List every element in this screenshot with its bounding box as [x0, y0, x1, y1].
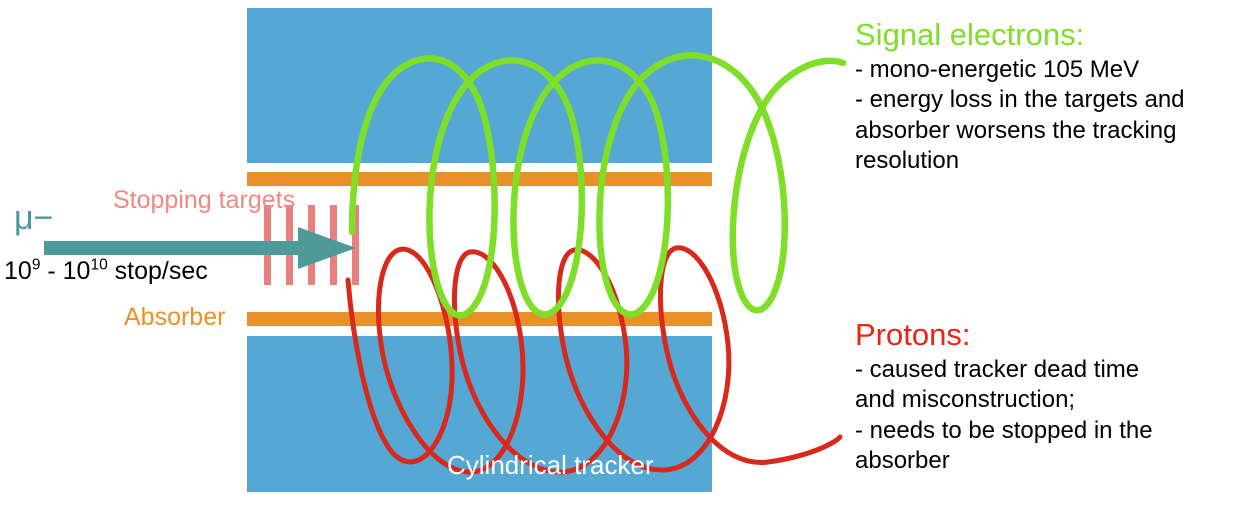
exponent: 9 — [32, 257, 41, 274]
annotation-protons: Protons: - caused tracker dead timeand m… — [855, 318, 1258, 477]
annotation-line: - mono-energetic 105 MeV — [855, 55, 1258, 85]
annotation-line: absorber — [855, 446, 1258, 476]
diagram-canvas: Stopping targets Absorber μ− 109 - 1010 … — [0, 0, 1258, 508]
annotation-signal-electrons: Signal electrons: - mono-energetic 105 M… — [855, 18, 1258, 177]
annotation-line: and misconstruction; — [855, 385, 1258, 415]
annotation-line: - caused tracker dead time — [855, 355, 1258, 385]
tracker-block-upper — [247, 8, 712, 163]
annotation-protons-title: Protons: — [855, 318, 1258, 353]
annotation-line: - needs to be stopped in the — [855, 416, 1258, 446]
label-cylindrical-tracker: Cylindrical tracker — [447, 450, 654, 481]
annotation-line: - energy loss in the targets and — [855, 85, 1258, 115]
absorber-bar-upper — [247, 172, 712, 186]
annotation-signal-body: - mono-energetic 105 MeV- energy loss in… — [855, 55, 1258, 177]
label-muon-beam-symbol: μ− — [14, 199, 53, 238]
label-muon-stopping-rate: 109 - 1010 stop/sec — [4, 257, 208, 286]
annotation-line: resolution — [855, 146, 1258, 176]
absorber-bar-lower — [247, 312, 712, 326]
exponent: 10 — [90, 257, 107, 274]
annotation-line: absorber worsens the tracking — [855, 116, 1258, 146]
label-stopping-targets: Stopping targets — [113, 186, 295, 215]
annotation-signal-title: Signal electrons: — [855, 18, 1258, 53]
label-absorber: Absorber — [124, 303, 225, 332]
annotation-protons-body: - caused tracker dead timeand misconstru… — [855, 355, 1258, 477]
